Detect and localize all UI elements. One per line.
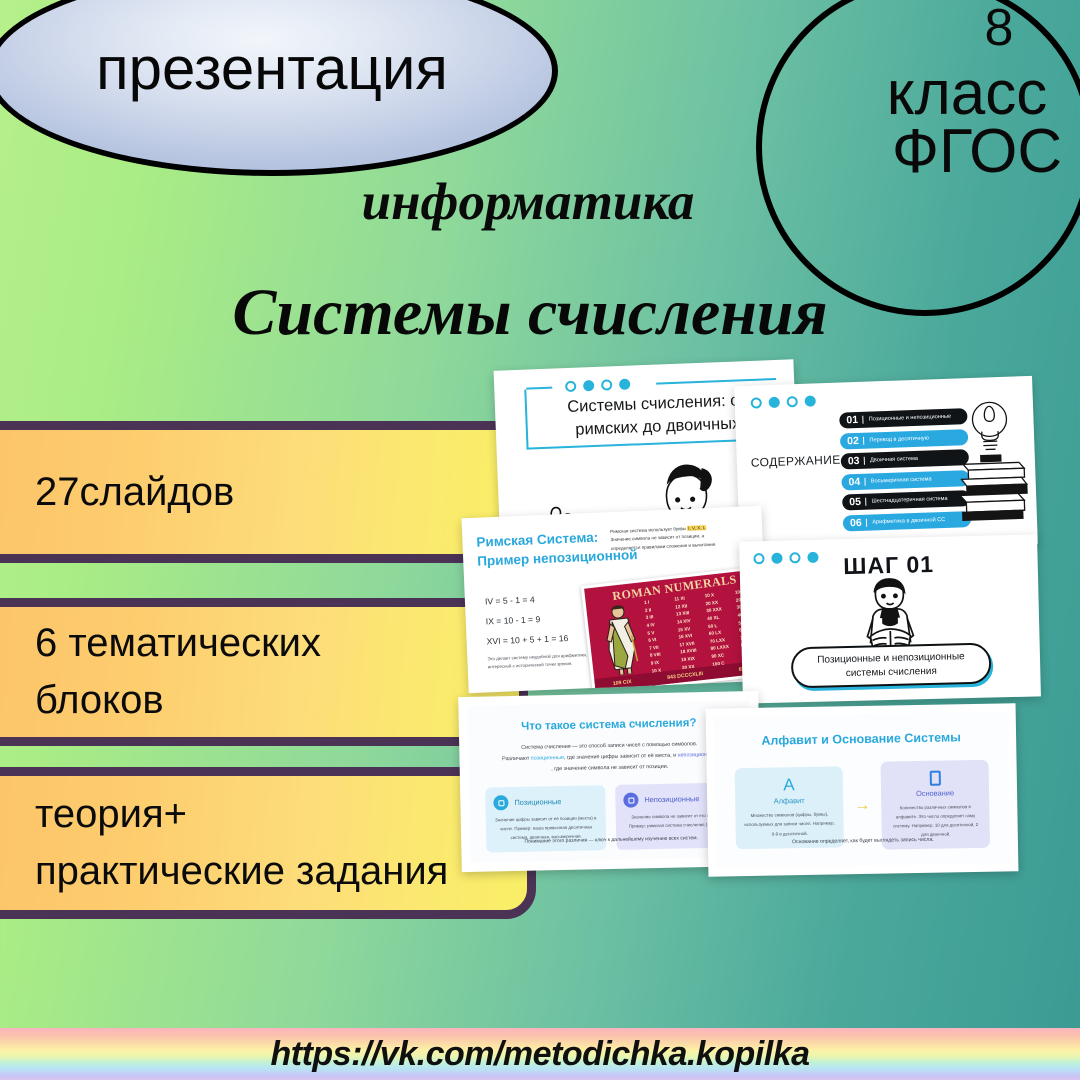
dot-icon: [751, 397, 762, 408]
grade-circle-badge: 8 класс ФГОС: [756, 0, 1080, 316]
roman-equations: IV = 5 - 1 = 4 IX = 10 - 1 = 9 XVI = 10 …: [485, 588, 569, 652]
dot-icon: [787, 396, 798, 407]
divider: [863, 436, 865, 444]
contents-item-text: Перевод в десятичную: [869, 435, 929, 443]
frame-top-line: [526, 387, 552, 390]
contents-item-text: Арифметика в двоичной СС: [872, 517, 945, 526]
definition-lead: Система счисления — это способ записи чи…: [486, 738, 733, 776]
page-title: Системы счисления: [0, 275, 1070, 351]
square-badge-icon: [623, 792, 638, 807]
roman-para-highlight: I, V, X, L: [687, 525, 706, 531]
dot-icon: [565, 381, 576, 392]
card-title: Позиционные: [514, 797, 561, 807]
lead-sentence-1: Система счисления — это способ записи чи…: [521, 741, 697, 751]
subject-heading: информатика: [0, 172, 1068, 232]
contents-item: 01 Позиционные и непозиционные: [839, 408, 967, 428]
slide-thumbnail-contents[interactable]: СОДЕРЖАНИЕ 01 Позиционные и непозиционны…: [734, 376, 1038, 554]
lead-sentence-4: , где значение символа не зависит от поз…: [551, 763, 668, 771]
roman-equation: XVI = 10 + 5 + 1 = 16: [486, 628, 568, 652]
contents-item: 04 Восьмеричная система: [841, 470, 969, 490]
card-header: Позиционные: [493, 793, 597, 810]
title-line-2: римских до двоичных: [575, 415, 741, 439]
square-badge-icon: [493, 795, 508, 810]
roman-heading-line-1: Римская Система:: [476, 530, 598, 550]
dot-icon: [601, 379, 612, 390]
arrow-right-icon: →: [849, 798, 875, 814]
presentation-label: презентация: [96, 34, 448, 103]
frame-right-line: [656, 378, 776, 385]
divider: [862, 416, 864, 424]
feature-badge-line: 27слайдов: [35, 464, 491, 521]
poster-example: 109 CIX: [613, 679, 632, 687]
divider: [863, 457, 865, 465]
lead-link-positional: позиционные: [531, 755, 564, 762]
contents-label: СОДЕРЖАНИЕ: [751, 453, 841, 470]
feature-badge-line: практические задания: [35, 843, 507, 900]
divider: [866, 519, 868, 527]
contents-item-text: Восьмеричная система: [871, 476, 932, 484]
feature-badge-line: блоков: [35, 672, 499, 729]
contents-item: 06 Арифметика в двоичной СС: [843, 511, 971, 531]
card-title: Непозиционные: [644, 794, 699, 804]
poster-stage: презентация 8 класс ФГОС информатика Сис…: [0, 0, 1080, 1080]
contents-item-number: 06: [850, 517, 862, 529]
alphabet-heading: Алфавит и Основание Системы: [714, 729, 1008, 748]
roman-para-2: Значение символа не зависит от позиции, …: [610, 534, 704, 543]
vk-url: https://vk.com/metodichka.kopilka: [271, 1035, 810, 1074]
feature-badge-theory: теория+ практические задания: [0, 767, 536, 919]
presentation-ellipse-badge: презентация: [0, 0, 558, 176]
square-glyph: [628, 797, 634, 803]
step-caption-line-2: системы счисления: [846, 665, 937, 678]
alphabet-card-title: Алфавит: [743, 796, 835, 807]
divider: [865, 498, 867, 506]
step-caption: Позиционные и непозиционные системы счис…: [791, 643, 992, 689]
dot-icon: [769, 397, 780, 408]
grade-number: 8: [836, 0, 1080, 58]
dot-icon: [805, 395, 816, 406]
feature-badge-line: теория+: [35, 786, 507, 843]
contents-item: 03 Двоичная система: [841, 449, 969, 469]
slide-thumbnail-alphabet[interactable]: Алфавит и Основание Системы А Алфавит Мн…: [706, 703, 1019, 876]
contents-item-text: Двоичная система: [870, 456, 918, 464]
contents-item-number: 01: [846, 414, 858, 426]
feature-badge-slides: 27слайдов: [0, 421, 520, 563]
slide-thumbnail-roman[interactable]: Римская Система: Пример непозиционной Ри…: [461, 506, 768, 693]
calculator-icon: [929, 771, 940, 786]
alphabet-slide-inner: Алфавит и Основание Системы А Алфавит Мн…: [714, 711, 1011, 868]
poster-example: 843 DCCCXLIII: [667, 670, 703, 680]
feature-badge-blocks: 6 тематических блоков: [0, 598, 528, 746]
contents-item-number: 02: [847, 435, 859, 447]
lead-sentence-2: Различают: [502, 755, 529, 762]
lead-sentence-3: , где значение цифры зависит от её места…: [564, 752, 676, 760]
roman-para-1: Римская система использует буквы: [610, 526, 686, 534]
title-line-1: Системы счисления: от: [567, 391, 747, 416]
poster-column: 1 I 2 II 3 III 4 IV 5 V 6 VI 7 VII 8 VII…: [644, 596, 680, 675]
base-card-title: Основание: [889, 788, 981, 799]
contents-item: 05 Шестнадцатеричная система: [842, 490, 970, 510]
feature-badge-line: 6 тематических: [35, 615, 499, 672]
dot-icon: [583, 380, 594, 391]
poster-column: 10 X 20 XX 30 XXX 40 XL 50 L 60 LX 70 LX…: [704, 589, 740, 668]
dots-decoration: [559, 378, 636, 392]
contents-item: 02 Перевод в десятичную: [840, 429, 968, 449]
contents-item-number: 03: [848, 455, 860, 467]
footer-url-bar: https://vk.com/metodichka.kopilka: [0, 1028, 1080, 1080]
step-caption-line-1: Позиционные и непозиционные: [817, 651, 965, 666]
base-card-body: Количество различных символов в алфавите…: [889, 802, 982, 840]
alphabet-card: А Алфавит Множество символов (цифры, бук…: [735, 766, 844, 849]
divider: [864, 477, 866, 485]
roman-man-illustration: [594, 601, 648, 678]
contents-item-number: 05: [849, 496, 861, 508]
contents-item-text: Шестнадцатеричная система: [871, 496, 947, 505]
lightbulb-books-illustration: [951, 392, 1031, 525]
dot-icon: [619, 379, 630, 390]
contents-item-text: Позиционные и непозиционные: [869, 414, 952, 423]
poster-column: 11 XI 12 XII 13 XIII 14 XIV 15 XV 16 XVI…: [674, 593, 710, 672]
contents-item-number: 04: [848, 476, 860, 488]
alphabet-glyph: А: [743, 775, 835, 794]
alphabet-card-body: Множество символов (цифры, буквы), испол…: [743, 810, 835, 839]
square-glyph: [498, 800, 504, 806]
slide-thumbnail-step[interactable]: ШАГ 01 Позиционные и непозиционные систе…: [739, 534, 1041, 703]
dots-decoration: [751, 395, 816, 408]
roman-para-3: определяется правилами сложения и вычита…: [611, 542, 717, 551]
